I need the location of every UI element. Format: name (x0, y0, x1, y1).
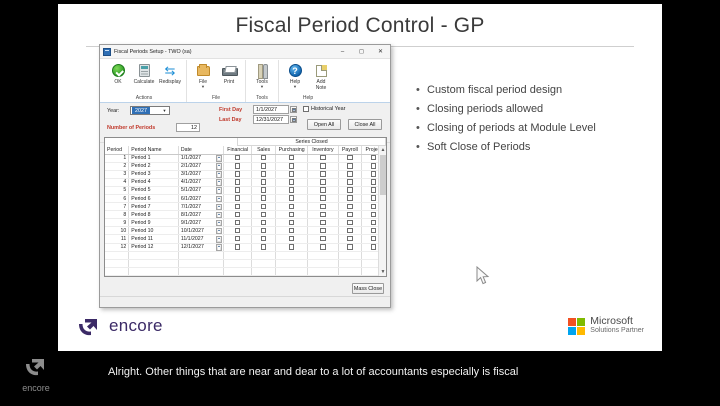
checkbox-financial[interactable] (235, 163, 241, 169)
cell-closed-payroll[interactable] (338, 170, 362, 178)
cell-empty[interactable] (308, 259, 338, 267)
checkbox-inventory[interactable] (320, 179, 326, 185)
refresh-arrows-icon: ⇆ (164, 62, 177, 79)
last-day-label: Last Day (219, 117, 241, 123)
checkbox-purchasing[interactable] (289, 155, 295, 161)
checkbox-payroll[interactable] (347, 163, 353, 169)
redisplay-button[interactable]: ⇆ Redisplay (157, 60, 183, 94)
calendar-icon[interactable] (216, 179, 223, 186)
cell-closed-purchasing[interactable] (275, 178, 307, 186)
cell-closed-inventory[interactable] (308, 194, 338, 202)
add-note-icon (316, 62, 327, 79)
cell-empty[interactable] (252, 267, 276, 275)
cell-closed-financial[interactable] (224, 211, 252, 219)
cell-empty[interactable] (224, 259, 252, 267)
cell-closed-financial[interactable] (224, 154, 252, 162)
cell-date[interactable]: 1/1/2027 (178, 154, 223, 162)
checkbox-inventory[interactable] (320, 195, 326, 201)
open-all-button[interactable]: Open All (307, 119, 341, 130)
checkbox-box (303, 106, 309, 112)
cell-closed-payroll[interactable] (338, 178, 362, 186)
table-row-empty[interactable] (105, 267, 386, 275)
checkbox-sales[interactable] (261, 220, 267, 226)
cell-closed-payroll[interactable] (338, 219, 362, 227)
cell-empty[interactable] (252, 259, 276, 267)
cell-empty[interactable] (129, 251, 179, 259)
calendar-icon[interactable] (216, 155, 223, 162)
cell-empty[interactable] (338, 259, 362, 267)
cell-closed-sales[interactable] (252, 186, 276, 194)
cell-closed-purchasing[interactable] (275, 203, 307, 211)
file-menu-button[interactable]: File ▼ (190, 60, 216, 94)
checkbox-financial[interactable] (235, 220, 241, 226)
cell-closed-inventory[interactable] (308, 227, 338, 235)
cell-period[interactable]: 9 (105, 219, 129, 227)
tools-menu-button[interactable]: Tools ▼ (249, 60, 275, 94)
table-row[interactable]: 2Period 22/1/2027 (105, 162, 386, 170)
window-statusbar (100, 296, 390, 307)
checkbox-project[interactable] (371, 163, 377, 169)
calendar-icon[interactable] (216, 228, 223, 235)
list-item-label: Soft Close of Periods (427, 139, 530, 156)
window-title: Fiscal Periods Setup - TWO (sa) (114, 49, 333, 55)
cell-period-name[interactable]: Period 12 (129, 243, 179, 251)
checkbox-purchasing[interactable] (289, 236, 295, 242)
first-day-input[interactable]: 1/1/2027 (253, 105, 289, 114)
checkbox-purchasing[interactable] (289, 212, 295, 218)
checkbox-financial[interactable] (235, 171, 241, 177)
cell-closed-sales[interactable] (252, 178, 276, 186)
cell-period[interactable]: 6 (105, 194, 129, 202)
cell-period[interactable]: 7 (105, 203, 129, 211)
cell-closed-financial[interactable] (224, 219, 252, 227)
cell-closed-inventory[interactable] (308, 154, 338, 162)
checkbox-inventory[interactable] (320, 236, 326, 242)
cell-closed-financial[interactable] (224, 194, 252, 202)
green-check-icon (112, 62, 125, 79)
cell-period-name[interactable]: Period 3 (129, 170, 179, 178)
cell-empty[interactable] (275, 267, 307, 275)
checkbox-financial[interactable] (235, 228, 241, 234)
cell-closed-purchasing[interactable] (275, 227, 307, 235)
checkbox-purchasing[interactable] (289, 220, 295, 226)
col-inventory[interactable]: Inventory (308, 146, 338, 154)
tools-icon (256, 62, 268, 79)
checkbox-project[interactable] (371, 244, 377, 250)
checkbox-project[interactable] (371, 212, 377, 218)
checkbox-project[interactable] (371, 204, 377, 210)
table-row-empty[interactable] (105, 251, 386, 259)
video-player-frame: Fiscal Period Control - GP • Custom fisc… (0, 0, 720, 406)
cell-empty[interactable] (338, 267, 362, 275)
cell-closed-purchasing[interactable] (275, 211, 307, 219)
checkbox-inventory[interactable] (320, 163, 326, 169)
cell-closed-payroll[interactable] (338, 194, 362, 202)
checkbox-financial[interactable] (235, 236, 241, 242)
calendar-icon[interactable] (216, 244, 223, 251)
checkbox-purchasing[interactable] (289, 195, 295, 201)
mouse-cursor-icon (476, 266, 490, 286)
table-row[interactable]: 4Period 44/1/2027 (105, 178, 386, 186)
calendar-icon[interactable] (216, 163, 223, 170)
checkbox-financial[interactable] (235, 204, 241, 210)
checkbox-sales[interactable] (261, 155, 267, 161)
checkbox-inventory[interactable] (320, 187, 326, 193)
cell-closed-payroll[interactable] (338, 186, 362, 194)
ok-button[interactable]: OK (105, 60, 131, 94)
checkbox-financial[interactable] (235, 155, 241, 161)
cell-closed-payroll[interactable] (338, 154, 362, 162)
cell-date[interactable]: 12/1/2027 (178, 243, 223, 251)
checkbox-project[interactable] (371, 187, 377, 193)
folder-icon (197, 62, 210, 79)
ribbon-group-actions: OK Calculate ⇆ Redisplay Actions (102, 60, 187, 102)
cell-closed-financial[interactable] (224, 162, 252, 170)
checkbox-purchasing[interactable] (289, 244, 295, 250)
cell-period[interactable]: 12 (105, 243, 129, 251)
checkbox-payroll[interactable] (347, 220, 353, 226)
cell-empty[interactable] (178, 251, 223, 259)
year-dropdown-value: 2027 (132, 107, 150, 114)
cell-closed-payroll[interactable] (338, 227, 362, 235)
list-item-label: Closing periods allowed (427, 101, 543, 118)
checkbox-purchasing[interactable] (289, 171, 295, 177)
bullet-marker-icon: • (416, 120, 427, 137)
cell-date[interactable]: 7/1/2027 (178, 203, 223, 211)
cell-closed-financial[interactable] (224, 203, 252, 211)
mass-close-button[interactable]: Mass Close (352, 283, 384, 294)
cell-period-name[interactable]: Period 9 (129, 219, 179, 227)
list-item: • Closing of periods at Module Level (416, 120, 652, 137)
cell-date[interactable]: 4/1/2027 (178, 178, 223, 186)
cell-period[interactable]: 8 (105, 211, 129, 219)
cell-closed-inventory[interactable] (308, 211, 338, 219)
help-question-icon: ? (289, 62, 302, 79)
col-sales[interactable]: Sales (252, 146, 276, 154)
checkbox-inventory[interactable] (320, 204, 326, 210)
checkbox-purchasing[interactable] (289, 179, 295, 185)
cell-closed-purchasing[interactable] (275, 219, 307, 227)
cell-empty[interactable] (338, 251, 362, 259)
checkbox-project[interactable] (371, 155, 377, 161)
cell-period-name[interactable]: Period 7 (129, 203, 179, 211)
table-row-empty[interactable] (105, 259, 386, 267)
cell-period-name[interactable]: Period 6 (129, 194, 179, 202)
cell-empty[interactable] (105, 251, 129, 259)
cell-empty[interactable] (178, 267, 223, 275)
cell-empty[interactable] (105, 259, 129, 267)
table-row[interactable]: 9Period 99/1/2027 (105, 219, 386, 227)
calendar-icon[interactable] (216, 236, 223, 243)
checkbox-project[interactable] (371, 179, 377, 185)
checkbox-inventory[interactable] (320, 220, 326, 226)
calendar-icon[interactable] (216, 220, 223, 227)
year-dropdown[interactable]: 2027 ▼ (130, 106, 170, 115)
cell-closed-financial[interactable] (224, 178, 252, 186)
cell-closed-sales[interactable] (252, 203, 276, 211)
checkbox-payroll[interactable] (347, 244, 353, 250)
last-day-input[interactable]: 12/31/2027 (253, 115, 289, 124)
chevron-down-icon[interactable]: ▼ (293, 85, 297, 89)
cell-closed-inventory[interactable] (308, 186, 338, 194)
cell-closed-inventory[interactable] (308, 243, 338, 251)
cell-date[interactable]: 10/1/2027 (178, 227, 223, 235)
cell-closed-sales[interactable] (252, 162, 276, 170)
checkbox-project[interactable] (371, 220, 377, 226)
chevron-down-icon[interactable]: ▼ (201, 85, 205, 89)
cell-empty[interactable] (224, 251, 252, 259)
cell-closed-purchasing[interactable] (275, 170, 307, 178)
chevron-down-icon[interactable]: ▼ (160, 107, 169, 114)
cell-closed-purchasing[interactable] (275, 243, 307, 251)
table-row[interactable]: 1Period 11/1/2027 (105, 154, 386, 162)
cell-date[interactable]: 9/1/2027 (178, 219, 223, 227)
cell-closed-sales[interactable] (252, 194, 276, 202)
calculator-icon (139, 62, 150, 79)
checkbox-inventory[interactable] (320, 244, 326, 250)
cell-empty[interactable] (308, 267, 338, 275)
table-row[interactable]: 5Period 55/1/2027 (105, 186, 386, 194)
open-all-label: Open All (314, 122, 334, 128)
cell-closed-purchasing[interactable] (275, 186, 307, 194)
checkbox-purchasing[interactable] (289, 228, 295, 234)
checkbox-financial[interactable] (235, 195, 241, 201)
checkbox-project[interactable] (371, 236, 377, 242)
cell-closed-inventory[interactable] (308, 203, 338, 211)
checkbox-payroll[interactable] (347, 179, 353, 185)
print-button[interactable]: Print (216, 60, 242, 94)
grid-scrollbar[interactable]: ▲ ▼ (378, 146, 386, 276)
col-period[interactable]: Period (105, 146, 129, 154)
cell-date[interactable]: 11/1/2027 (178, 235, 223, 243)
printer-icon (222, 62, 236, 79)
cell-empty[interactable] (129, 259, 179, 267)
cell-closed-financial[interactable] (224, 170, 252, 178)
checkbox-sales[interactable] (261, 171, 267, 177)
checkbox-payroll[interactable] (347, 204, 353, 210)
cell-closed-inventory[interactable] (308, 170, 338, 178)
cell-period[interactable]: 5 (105, 186, 129, 194)
checkbox-project[interactable] (371, 171, 377, 177)
cell-date[interactable]: 2/1/2027 (178, 162, 223, 170)
cell-empty[interactable] (224, 267, 252, 275)
list-item: • Closing periods allowed (416, 101, 652, 118)
cell-period-name[interactable]: Period 10 (129, 227, 179, 235)
cell-closed-sales[interactable] (252, 170, 276, 178)
cell-empty[interactable] (252, 251, 276, 259)
scrollbar-thumb[interactable] (380, 155, 386, 195)
cell-date[interactable]: 8/1/2027 (178, 211, 223, 219)
series-closed-band: Series Closed (237, 138, 386, 146)
cell-period[interactable]: 11 (105, 235, 129, 243)
cell-period[interactable]: 10 (105, 227, 129, 235)
cell-period[interactable]: 1 (105, 154, 129, 162)
add-note-button[interactable]: Add Note (308, 60, 334, 94)
cell-closed-sales[interactable] (252, 211, 276, 219)
checkbox-sales[interactable] (261, 244, 267, 250)
cell-closed-financial[interactable] (224, 235, 252, 243)
col-purchasing[interactable]: Purchasing (275, 146, 307, 154)
list-item: • Soft Close of Periods (416, 139, 652, 156)
calendar-icon[interactable] (290, 116, 297, 123)
cell-closed-purchasing[interactable] (275, 235, 307, 243)
cell-empty[interactable] (275, 251, 307, 259)
cell-closed-purchasing[interactable] (275, 162, 307, 170)
cell-closed-purchasing[interactable] (275, 194, 307, 202)
close-all-button[interactable]: Close All (348, 119, 382, 130)
encore-watermark-label: encore (12, 383, 60, 393)
bullet-marker-icon: • (416, 101, 427, 118)
checkbox-sales[interactable] (261, 195, 267, 201)
cell-period-name[interactable]: Period 11 (129, 235, 179, 243)
close-icon[interactable]: ✕ (371, 45, 390, 59)
bullet-marker-icon: • (416, 82, 427, 99)
cell-date[interactable]: 6/1/2027 (178, 194, 223, 202)
bullet-list: • Custom fiscal period design • Closing … (416, 82, 652, 158)
table-row[interactable]: 8Period 88/1/2027 (105, 211, 386, 219)
checkbox-inventory[interactable] (320, 171, 326, 177)
window-icon (103, 48, 111, 56)
cell-period[interactable]: 2 (105, 162, 129, 170)
cell-closed-payroll[interactable] (338, 162, 362, 170)
table-row[interactable]: 7Period 77/1/2027 (105, 203, 386, 211)
cell-period[interactable]: 3 (105, 170, 129, 178)
cell-period-name[interactable]: Period 8 (129, 211, 179, 219)
window-titlebar[interactable]: Fiscal Periods Setup - TWO (sa) – ◻ ✕ (100, 45, 390, 59)
cell-period-name[interactable]: Period 2 (129, 162, 179, 170)
number-of-periods-input[interactable]: 12 (176, 123, 200, 132)
cell-empty[interactable] (308, 251, 338, 259)
cell-closed-sales[interactable] (252, 219, 276, 227)
checkbox-sales[interactable] (261, 204, 267, 210)
cell-period-name[interactable]: Period 5 (129, 186, 179, 194)
calendar-icon[interactable] (216, 187, 223, 194)
checkbox-payroll[interactable] (347, 155, 353, 161)
help-menu-button[interactable]: ? Help ▼ (282, 60, 308, 94)
col-period-name[interactable]: Period Name (129, 146, 179, 154)
cell-closed-inventory[interactable] (308, 235, 338, 243)
checkbox-sales[interactable] (261, 212, 267, 218)
calendar-icon[interactable] (216, 171, 223, 178)
cell-closed-purchasing[interactable] (275, 154, 307, 162)
cell-empty[interactable] (129, 267, 179, 275)
cell-closed-inventory[interactable] (308, 178, 338, 186)
checkbox-sales[interactable] (261, 179, 267, 185)
checkbox-purchasing[interactable] (289, 187, 295, 193)
calendar-icon[interactable] (216, 212, 223, 219)
checkbox-sales[interactable] (261, 187, 267, 193)
checkbox-payroll[interactable] (347, 228, 353, 234)
checkbox-purchasing[interactable] (289, 204, 295, 210)
cell-closed-payroll[interactable] (338, 243, 362, 251)
historical-year-checkbox[interactable]: Historical Year (303, 106, 345, 112)
checkbox-inventory[interactable] (320, 228, 326, 234)
ribbon-group-file: File ▼ Print File (187, 60, 246, 102)
cell-closed-sales[interactable] (252, 235, 276, 243)
scroll-up-icon[interactable]: ▲ (379, 146, 387, 154)
checkbox-project[interactable] (371, 195, 377, 201)
encore-wordmark: encore (109, 316, 163, 336)
table-header-row: Period Period Name Date Financial Sales … (105, 146, 386, 154)
cell-closed-sales[interactable] (252, 243, 276, 251)
presentation-slide: Fiscal Period Control - GP • Custom fisc… (58, 4, 662, 351)
cell-closed-payroll[interactable] (338, 211, 362, 219)
microsoft-solutions-partner-logo: Microsoft Solutions Partner (568, 317, 644, 335)
checkbox-purchasing[interactable] (289, 163, 295, 169)
table-row[interactable]: 6Period 66/1/2027 (105, 194, 386, 202)
checkbox-payroll[interactable] (347, 171, 353, 177)
cell-closed-sales[interactable] (252, 154, 276, 162)
calendar-icon[interactable] (216, 204, 223, 211)
list-item-label: Custom fiscal period design (427, 82, 562, 99)
table-row[interactable]: 3Period 33/1/2027 (105, 170, 386, 178)
cell-closed-payroll[interactable] (338, 203, 362, 211)
table-row[interactable]: 12Period 1212/1/2027 (105, 243, 386, 251)
scroll-down-icon[interactable]: ▼ (379, 268, 387, 276)
checkbox-sales[interactable] (261, 163, 267, 169)
cell-period-name[interactable]: Period 4 (129, 178, 179, 186)
close-all-label: Close All (355, 122, 376, 128)
checkbox-payroll[interactable] (347, 195, 353, 201)
col-financial[interactable]: Financial (224, 146, 252, 154)
checkbox-financial[interactable] (235, 244, 241, 250)
checkbox-sales[interactable] (261, 228, 267, 234)
table-row[interactable]: 11Period 1111/1/2027 (105, 235, 386, 243)
checkbox-financial[interactable] (235, 187, 241, 193)
cell-closed-inventory[interactable] (308, 219, 338, 227)
encore-logo: encore (76, 315, 163, 337)
cell-closed-inventory[interactable] (308, 162, 338, 170)
minimize-icon[interactable]: – (333, 45, 352, 59)
checkbox-inventory[interactable] (320, 155, 326, 161)
ribbon-group-tools: Tools ▼ Tools (246, 60, 279, 102)
col-date[interactable]: Date (178, 146, 223, 154)
cell-date[interactable]: 3/1/2027 (178, 170, 223, 178)
col-payroll[interactable]: Payroll (338, 146, 362, 154)
calendar-icon[interactable] (216, 196, 223, 203)
cell-closed-payroll[interactable] (338, 235, 362, 243)
checkbox-financial[interactable] (235, 179, 241, 185)
cell-empty[interactable] (275, 259, 307, 267)
checkbox-payroll[interactable] (347, 187, 353, 193)
cell-period[interactable]: 4 (105, 178, 129, 186)
checkbox-inventory[interactable] (320, 212, 326, 218)
maximize-icon[interactable]: ◻ (352, 45, 371, 59)
cell-date[interactable]: 5/1/2027 (178, 186, 223, 194)
cell-closed-sales[interactable] (252, 227, 276, 235)
checkbox-payroll[interactable] (347, 236, 353, 242)
checkbox-payroll[interactable] (347, 212, 353, 218)
microsoft-wordmark: Microsoft (590, 317, 644, 326)
calculate-button[interactable]: Calculate (131, 60, 157, 94)
cell-closed-financial[interactable] (224, 186, 252, 194)
checkbox-financial[interactable] (235, 212, 241, 218)
cell-empty[interactable] (178, 259, 223, 267)
checkbox-sales[interactable] (261, 236, 267, 242)
table-row[interactable]: 10Period 1010/1/2027 (105, 227, 386, 235)
window-ribbon: OK Calculate ⇆ Redisplay Actions (100, 59, 390, 103)
cell-period-name[interactable]: Period 1 (129, 154, 179, 162)
calendar-icon[interactable] (290, 106, 297, 113)
chevron-down-icon[interactable]: ▼ (260, 85, 264, 89)
list-item-label: Closing of periods at Module Level (427, 120, 596, 137)
cell-closed-financial[interactable] (224, 227, 252, 235)
cell-closed-financial[interactable] (224, 243, 252, 251)
checkbox-project[interactable] (371, 228, 377, 234)
cell-empty[interactable] (105, 267, 129, 275)
number-of-periods-label: Number of Periods (107, 125, 155, 131)
encore-swoosh-icon (76, 315, 102, 337)
